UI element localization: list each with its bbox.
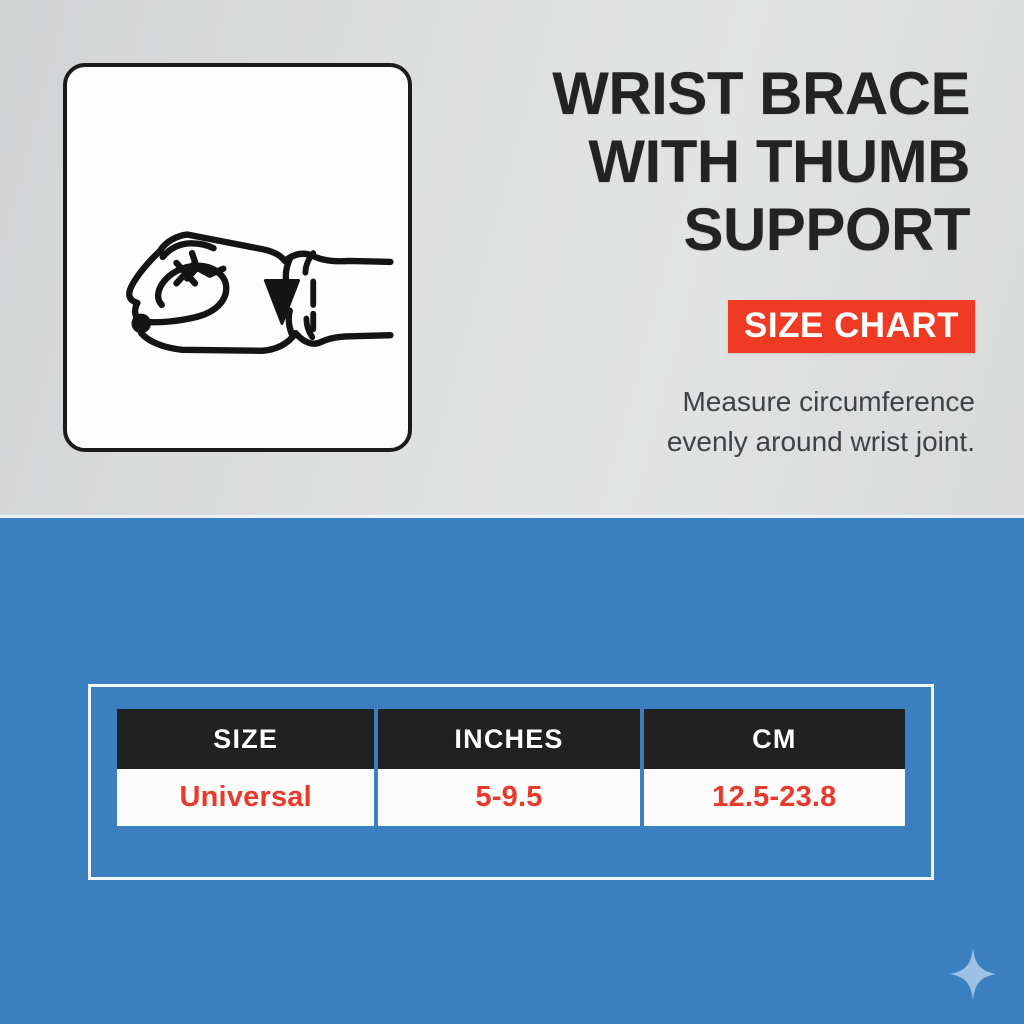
cell-inches: 5-9.5 xyxy=(378,769,639,826)
table-header: SIZE INCHES CM xyxy=(117,709,905,769)
instruction-line-2: evenly around wrist joint. xyxy=(430,422,975,462)
size-table: SIZE INCHES CM Universal 5-9.5 12.5-23.8 xyxy=(113,709,909,826)
table-header-row: SIZE INCHES CM xyxy=(117,709,905,769)
sparkle-icon xyxy=(950,948,996,1000)
table-row: Universal 5-9.5 12.5-23.8 xyxy=(117,769,905,826)
badge-row: SIZE CHART xyxy=(430,300,975,353)
size-chart-badge: SIZE CHART xyxy=(728,300,975,353)
instruction-line-1: Measure circumference xyxy=(430,382,975,422)
cell-cm: 12.5-23.8 xyxy=(644,769,905,826)
instruction-text: Measure circumference evenly around wris… xyxy=(430,382,975,462)
illustration-card xyxy=(63,63,412,452)
size-chart-poster: WRIST BRACE WITH THUMB SUPPORT SIZE CHAR… xyxy=(0,0,1024,1024)
size-table-frame: SIZE INCHES CM Universal 5-9.5 12.5-23.8 xyxy=(88,684,934,880)
column-header-inches: INCHES xyxy=(378,709,639,769)
header-section: WRIST BRACE WITH THUMB SUPPORT SIZE CHAR… xyxy=(0,0,1024,518)
headline-block: WRIST BRACE WITH THUMB SUPPORT xyxy=(430,60,970,264)
column-header-size: SIZE xyxy=(117,709,374,769)
column-header-cm: CM xyxy=(644,709,905,769)
cell-size: Universal xyxy=(117,769,374,826)
page-title: WRIST BRACE WITH THUMB SUPPORT xyxy=(430,60,970,264)
headline-line-2: WITH THUMB xyxy=(430,128,970,196)
size-table-section: SIZE INCHES CM Universal 5-9.5 12.5-23.8 xyxy=(0,518,1024,1024)
headline-line-1: WRIST BRACE xyxy=(430,60,970,128)
hand-wrist-measure-icon xyxy=(67,67,408,448)
table-body: Universal 5-9.5 12.5-23.8 xyxy=(117,769,905,826)
instruction-block: Measure circumference evenly around wris… xyxy=(430,382,975,462)
headline-line-3: SUPPORT xyxy=(430,196,970,264)
